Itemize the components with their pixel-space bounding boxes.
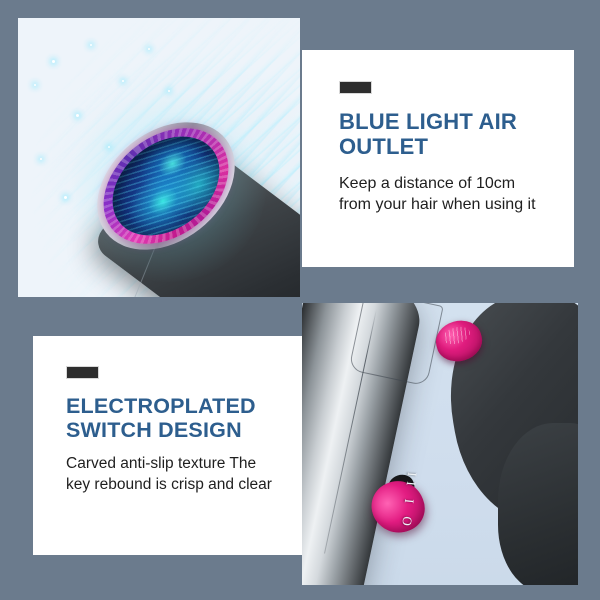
feature-body: Keep a distance of 10cm from your hair w… — [339, 173, 539, 215]
sparkle-icon — [64, 196, 67, 199]
sparkle-icon — [148, 48, 150, 50]
product-feature-collage: BLUE LIGHT AIR OUTLET Keep a distance of… — [0, 0, 600, 600]
sparkle-icon — [122, 80, 124, 82]
feature-card-blue-light-air-outlet: BLUE LIGHT AIR OUTLET Keep a distance of… — [302, 50, 574, 267]
feature-body: Carved anti-slip texture The key rebound… — [66, 454, 276, 495]
sparkle-icon — [76, 114, 79, 117]
hair-dryer-switch-photo: II I O — [302, 303, 578, 585]
feature-heading: BLUE LIGHT AIR OUTLET — [339, 110, 554, 159]
sparkle-icon — [90, 44, 92, 46]
sparkle-icon — [40, 158, 42, 160]
hair-dryer-nozzle-photo — [18, 18, 300, 297]
sparkle-icon — [52, 60, 55, 63]
accent-dash-icon — [66, 366, 99, 379]
sparkle-icon — [34, 84, 36, 86]
accent-dash-icon — [339, 81, 372, 94]
feature-card-electroplated-switch-design: ELECTROPLATED SWITCH DESIGN Carved anti-… — [33, 336, 303, 555]
feature-heading: ELECTROPLATED SWITCH DESIGN — [66, 394, 281, 442]
